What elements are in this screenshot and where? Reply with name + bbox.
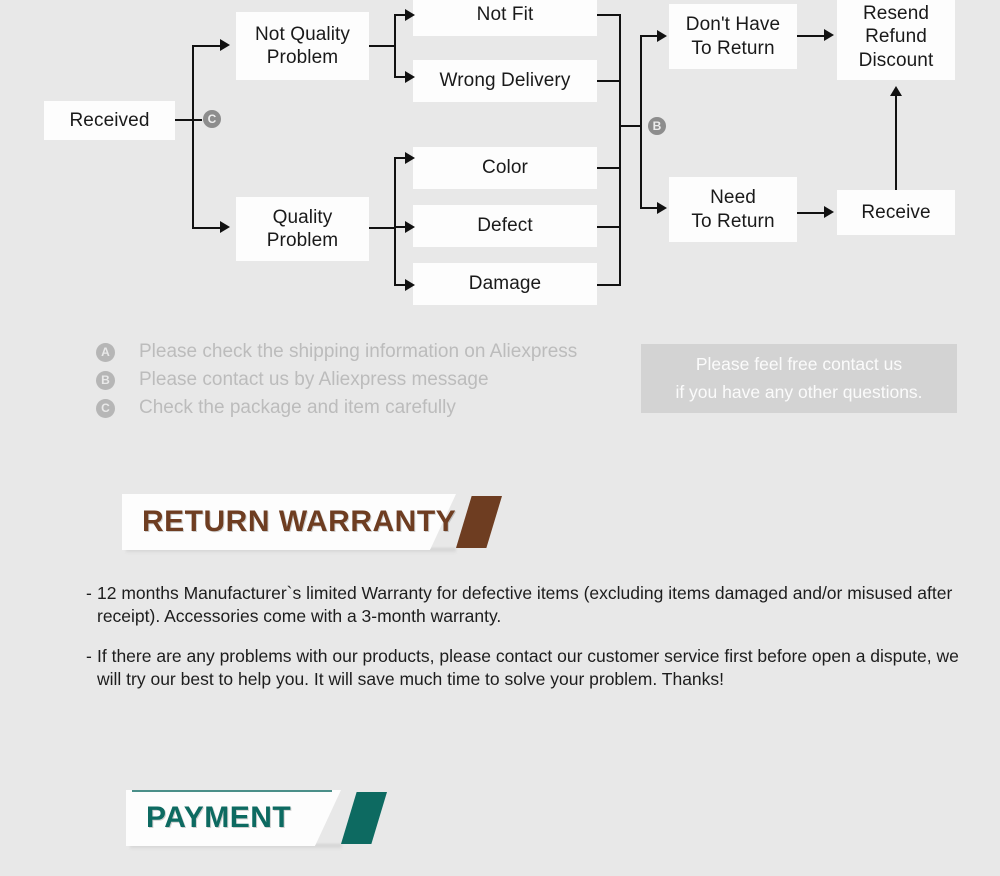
arrow-to-damage-icon bbox=[405, 279, 415, 291]
note-text-a: Please check the shipping information on… bbox=[139, 341, 577, 363]
warranty-paragraph-1: - 12 months Manufacturer`s limited Warra… bbox=[86, 582, 966, 628]
warranty-paragraph-2-dash: - bbox=[86, 645, 97, 691]
flow-node-wrong-delivery: Wrong Delivery bbox=[413, 60, 597, 102]
flow-node-dont-have-to-return: Don't Have To Return bbox=[669, 4, 797, 69]
connector-to-not-quality bbox=[192, 45, 220, 47]
flow-node-damage-label: Damage bbox=[469, 272, 541, 295]
connector-bus-midpoint bbox=[619, 125, 642, 127]
warranty-paragraph-2: - If there are any problems with our pro… bbox=[86, 645, 966, 691]
flow-node-defect-label: Defect bbox=[477, 214, 533, 237]
flow-node-resend-refund-discount: Resend Refund Discount bbox=[837, 0, 955, 80]
return-warranty-banner: RETURN WARRANTY bbox=[122, 494, 502, 550]
marker-c-icon: C bbox=[203, 110, 221, 128]
note-item-a: A Please check the shipping information … bbox=[96, 338, 636, 366]
flow-node-not-quality-problem-line1: Not Quality bbox=[255, 23, 350, 46]
connector-received-split-vertical bbox=[192, 46, 194, 228]
payment-slash-icon bbox=[341, 792, 387, 844]
warranty-paragraph-2-text: If there are any problems with our produ… bbox=[97, 645, 966, 691]
flow-node-color: Color bbox=[413, 147, 597, 189]
connector-not-fit-out bbox=[597, 14, 621, 16]
connector-quality-out bbox=[369, 227, 396, 229]
flow-node-wrong-delivery-label: Wrong Delivery bbox=[440, 69, 571, 92]
flow-node-defect: Defect bbox=[413, 205, 597, 247]
connector-dont-return-out bbox=[797, 35, 825, 37]
return-warranty-slash-icon bbox=[456, 496, 502, 548]
flow-node-received: Received bbox=[44, 101, 175, 140]
note-text-b: Please contact us by Aliexpress message bbox=[139, 369, 489, 391]
return-warranty-banner-title: RETURN WARRANTY bbox=[142, 494, 456, 550]
flow-node-need-to-return-line1: Need bbox=[710, 186, 756, 209]
flow-node-quality-problem-line1: Quality bbox=[273, 206, 333, 229]
connector-need-return-out bbox=[797, 212, 825, 214]
contact-us-line2: if you have any other questions. bbox=[675, 379, 922, 406]
flow-node-receive-label: Receive bbox=[861, 201, 930, 224]
connector-damage-out bbox=[597, 284, 621, 286]
flow-node-resend-refund-discount-line3: Discount bbox=[859, 49, 934, 72]
flow-node-receive: Receive bbox=[837, 190, 955, 235]
flow-node-resend-refund-discount-line2: Refund bbox=[865, 25, 927, 48]
flow-node-resend-refund-discount-line1: Resend bbox=[863, 2, 929, 25]
connector-received-out bbox=[175, 119, 202, 121]
flow-node-color-label: Color bbox=[482, 156, 528, 179]
warranty-text-block: - 12 months Manufacturer`s limited Warra… bbox=[86, 582, 966, 708]
flow-node-need-to-return-line2: To Return bbox=[691, 210, 774, 233]
arrow-to-receive-icon bbox=[824, 206, 834, 218]
payment-banner-title: PAYMENT bbox=[146, 790, 291, 846]
note-item-b: B Please contact us by Aliexpress messag… bbox=[96, 366, 636, 394]
connector-not-quality-out bbox=[369, 45, 396, 47]
flow-node-not-fit-label: Not Fit bbox=[477, 3, 534, 26]
connector-receive-to-resend-vertical bbox=[895, 96, 897, 190]
arrow-to-need-return-icon bbox=[657, 202, 667, 214]
connector-wrong-delivery-out bbox=[597, 80, 621, 82]
page-root: Received Not Quality Problem Quality Pro… bbox=[0, 0, 1000, 876]
flow-node-damage: Damage bbox=[413, 263, 597, 305]
arrow-receive-to-resend-icon bbox=[890, 86, 902, 96]
warranty-paragraph-1-dash: - bbox=[86, 582, 97, 628]
arrow-to-color-icon bbox=[405, 152, 415, 164]
flow-node-need-to-return: Need To Return bbox=[669, 177, 797, 242]
note-badge-b-icon: B bbox=[96, 371, 115, 390]
payment-banner: PAYMENT bbox=[126, 790, 388, 846]
note-item-c: C Check the package and item carefully bbox=[96, 394, 636, 422]
flow-node-quality-problem-line2: Problem bbox=[267, 229, 338, 252]
flow-node-dont-have-to-return-line2: To Return bbox=[691, 37, 774, 60]
connector-merge-bus-vertical bbox=[619, 14, 621, 286]
arrow-to-resend-icon bbox=[824, 29, 834, 41]
flow-node-received-label: Received bbox=[69, 109, 149, 132]
contact-us-line1: Please feel free contact us bbox=[696, 351, 902, 378]
arrow-to-not-quality-icon bbox=[220, 39, 230, 51]
marker-b-icon: B bbox=[648, 117, 666, 135]
connector-not-quality-split-vertical bbox=[394, 15, 396, 77]
connector-color-out bbox=[597, 167, 621, 169]
flow-node-quality-problem: Quality Problem bbox=[236, 197, 369, 261]
notes-list: A Please check the shipping information … bbox=[96, 338, 636, 422]
connector-to-quality bbox=[192, 227, 220, 229]
note-badge-c-icon: C bbox=[96, 399, 115, 418]
connector-quality-split-vertical bbox=[394, 158, 396, 286]
note-badge-a-icon: A bbox=[96, 343, 115, 362]
arrow-to-not-fit-icon bbox=[405, 9, 415, 21]
arrow-to-quality-icon bbox=[220, 221, 230, 233]
contact-us-box: Please feel free contact us if you have … bbox=[641, 344, 957, 413]
arrow-to-wrong-delivery-icon bbox=[405, 71, 415, 83]
flow-node-not-quality-problem-line2: Problem bbox=[267, 46, 338, 69]
arrow-to-dont-return-icon bbox=[657, 30, 667, 42]
flow-node-dont-have-to-return-line1: Don't Have bbox=[686, 13, 780, 36]
warranty-paragraph-1-text: 12 months Manufacturer`s limited Warrant… bbox=[97, 582, 966, 628]
connector-defect-out bbox=[597, 226, 621, 228]
return-process-flowchart: Received Not Quality Problem Quality Pro… bbox=[0, 0, 1000, 320]
arrow-to-defect-icon bbox=[405, 221, 415, 233]
connector-return-split-vertical bbox=[640, 36, 642, 208]
note-text-c: Check the package and item carefully bbox=[139, 397, 456, 419]
flow-node-not-quality-problem: Not Quality Problem bbox=[236, 12, 369, 80]
flow-node-not-fit: Not Fit bbox=[413, 0, 597, 36]
